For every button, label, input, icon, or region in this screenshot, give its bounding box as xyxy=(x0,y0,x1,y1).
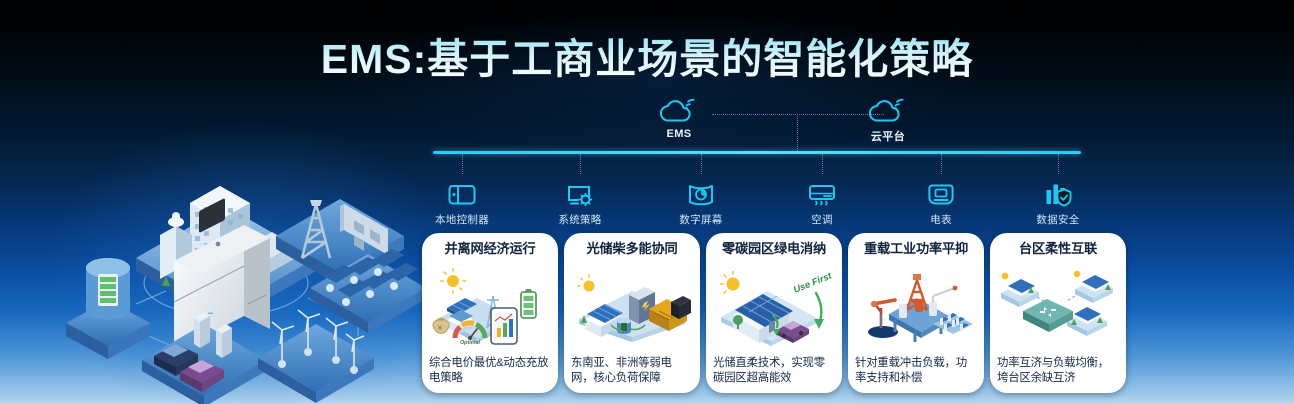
card-title: 重载工业功率平抑 xyxy=(864,241,968,257)
device-label: 数据安全 xyxy=(1012,212,1104,227)
scenario-card-3[interactable]: 零碳园区绿电消纳 xyxy=(706,233,842,393)
drop-line-3 xyxy=(701,154,702,174)
cloud-node-ems[interactable]: EMS xyxy=(634,96,724,140)
card-title: 并离网经济运行 xyxy=(445,241,536,257)
scenario-card-row: 并离网经济运行 xyxy=(422,233,1106,393)
card-description: 东南亚、非洲等弱电网，核心负荷保障 xyxy=(571,356,693,386)
device-data-security[interactable]: 数据安全 xyxy=(1012,176,1104,227)
data-security-shield-icon xyxy=(1012,176,1104,208)
card-description: 功率互济与负载均衡，垮台区余缺互济 xyxy=(997,356,1119,386)
svg-text:¥: ¥ xyxy=(438,325,442,332)
local-controller-icon xyxy=(416,176,508,208)
card-title: 光储柴多能协同 xyxy=(587,241,678,257)
cloud-to-bus-line xyxy=(797,114,798,151)
scenario-card-5[interactable]: 台区柔性互联 xyxy=(990,233,1126,393)
device-label: 空调 xyxy=(776,212,868,227)
drop-line-4 xyxy=(822,154,823,174)
digital-screen-icon xyxy=(655,176,747,208)
cloud-signal-icon xyxy=(843,96,933,126)
isometric-energy-scene: ▬ xyxy=(58,108,428,398)
electric-meter-icon xyxy=(895,176,987,208)
drop-line-5 xyxy=(941,154,942,174)
grid-offgrid-economy-art: ¥ Optimal xyxy=(429,257,551,356)
ems-bus-line xyxy=(433,151,1081,154)
flexible-interconnection-art xyxy=(997,257,1119,356)
drop-line-6 xyxy=(1058,154,1059,174)
card-title: 零碳园区绿电消纳 xyxy=(722,241,826,257)
cloud-node-cloud-platform[interactable]: 云平台 xyxy=(843,96,933,144)
svg-text:▬: ▬ xyxy=(208,310,213,316)
card-description: 光储直柔技术，实现零碳园区超高能效 xyxy=(713,356,835,386)
device-label: 电表 xyxy=(895,212,987,227)
pv-storage-diesel-art xyxy=(571,257,693,356)
scenario-card-1[interactable]: 并离网经济运行 xyxy=(422,233,558,393)
device-label: 系统策略 xyxy=(534,212,626,227)
use-first-label: Use First xyxy=(792,270,834,296)
card-description: 综合电价最优&动态充放电策略 xyxy=(429,356,551,386)
scenario-card-4[interactable]: 重载工业功率平抑 xyxy=(848,233,984,393)
device-air-conditioner[interactable]: 空调 xyxy=(776,176,868,227)
gauge-label: Optimal xyxy=(460,340,481,346)
slide-canvas: EMS:基于工商业场景的智能化策略 EMS:基于工商业场景的智能化策略 xyxy=(0,0,1294,404)
device-system-strategy[interactable]: 系统策略 xyxy=(534,176,626,227)
drop-line-1 xyxy=(462,154,463,174)
scenario-card-2[interactable]: 光储柴多能协同 xyxy=(564,233,700,393)
device-label: 数字屏幕 xyxy=(655,212,747,227)
system-strategy-gear-icon xyxy=(534,176,626,208)
device-icon-row: 本地控制器 系统策略 xyxy=(0,168,1294,226)
battery-storage xyxy=(66,258,150,359)
heavy-industry-art xyxy=(855,257,977,356)
card-description: 针对重载冲击负载，功率支持和补偿 xyxy=(855,356,977,386)
cloud-signal-icon xyxy=(634,96,724,126)
device-local-controller[interactable]: 本地控制器 xyxy=(416,176,508,227)
cloud-node-label: EMS xyxy=(634,128,724,140)
device-label: 本地控制器 xyxy=(416,212,508,227)
card-title: 台区柔性互联 xyxy=(1019,241,1097,257)
cloud-node-row: EMS 云平台 xyxy=(0,96,1294,146)
air-conditioner-icon xyxy=(776,176,868,208)
device-electric-meter[interactable]: 电表 xyxy=(895,176,987,227)
ev-charging xyxy=(142,312,266,404)
cloud-node-label: 云平台 xyxy=(843,128,933,144)
zero-carbon-park-art: Use First xyxy=(713,257,835,356)
drop-line-2 xyxy=(580,154,581,174)
page-title: EMS:基于工商业场景的智能化策略 xyxy=(0,36,1294,83)
device-digital-screen[interactable]: 数字屏幕 xyxy=(655,176,747,227)
